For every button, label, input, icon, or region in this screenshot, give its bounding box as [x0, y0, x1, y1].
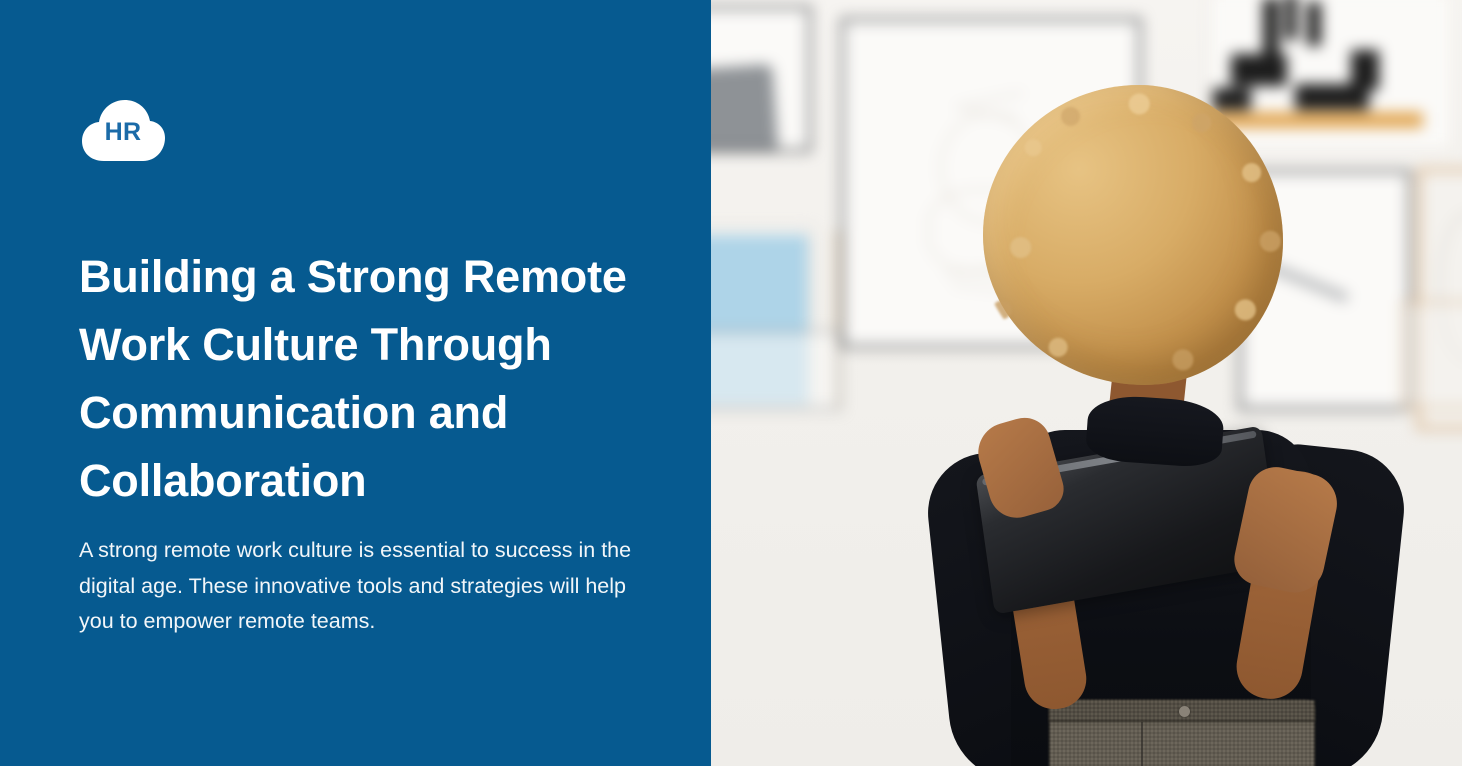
hero-photo	[711, 0, 1462, 766]
logo-text: HR	[79, 97, 167, 163]
page-description: A strong remote work culture is essentia…	[79, 533, 639, 640]
turtleneck-collar	[1085, 393, 1225, 468]
left-content-panel: HR Building a Strong Remote Work Culture…	[0, 0, 711, 766]
trouser-button	[1179, 706, 1190, 717]
subhead-text: A strong remote work culture is essentia…	[79, 538, 631, 633]
hr-cloud-logo[interactable]: HR	[79, 97, 167, 163]
page-title: Building a Strong Remote Work Culture Th…	[79, 243, 659, 515]
curly-hair	[983, 85, 1283, 385]
headline-text: Building a Strong Remote Work Culture Th…	[79, 251, 627, 506]
hero-banner: HR Building a Strong Remote Work Culture…	[0, 0, 1462, 766]
person-figure	[711, 0, 1462, 766]
trouser-seam	[1141, 722, 1143, 766]
